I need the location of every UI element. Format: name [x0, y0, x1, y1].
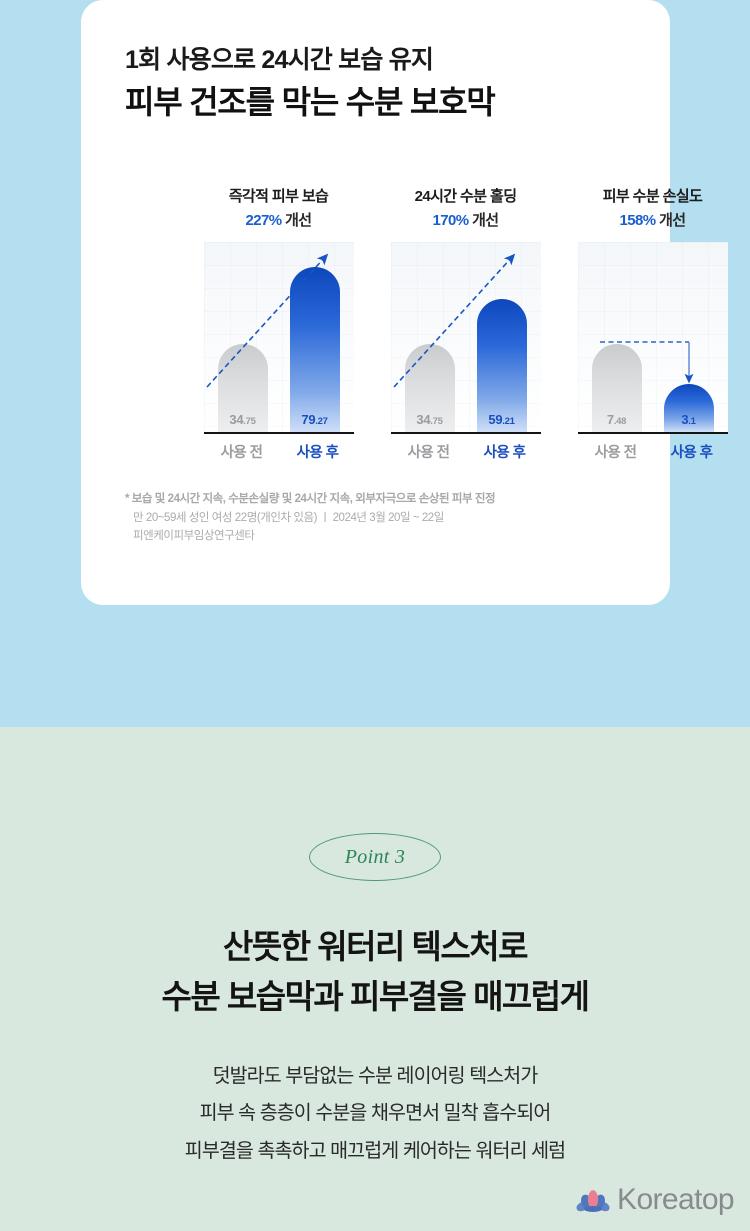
footnote-line-1: * 보습 및 24시간 지속, 수분손실량 및 24시간 지속, 외부자극으로 … [125, 490, 645, 509]
chart-subtitle-3: 158% 개선 [620, 209, 686, 230]
bar-after-1: 79.27 [290, 267, 340, 432]
chart-plot-1: 34.75 79.27 [204, 242, 354, 432]
bar-after-int-2: 59 [488, 412, 502, 427]
product-detail-page: 1회 사용으로 24시간 보습 유지 피부 건조를 막는 수분 보호막 즉각적 … [0, 0, 750, 1231]
footnote-line-3: 피엔케이피부임상연구센타 [125, 527, 645, 546]
chart-improvement-pct-2: 170% [433, 212, 469, 229]
axis-label-after-1: 사용 후 [282, 441, 354, 462]
bottom-headline-group: 산뜻한 워터리 텍스처로 수분 보습막과 피부결을 매끄럽게 [0, 922, 750, 1021]
body-copy-group: 덧발라도 부담없는 수분 레이어링 텍스처가 피부 속 층층이 수분을 채우면서… [0, 1058, 750, 1170]
axis-label-after-3: 사용 후 [656, 441, 728, 462]
footnote-line-2: 만 20~59세 성인 여성 22명(개인차 있음) ㅣ 2024년 3월 20… [125, 509, 645, 528]
axis-label-after-2: 사용 후 [469, 441, 541, 462]
bar-before-dec-1: .75 [243, 416, 255, 427]
chart-title-2: 24시간 수분 홀딩 [415, 185, 517, 206]
bar-before-dec-2: .75 [430, 416, 442, 427]
bar-after-int-1: 79 [301, 412, 315, 427]
lotus-icon [576, 1185, 610, 1215]
chart-improvement-suffix-3: 개선 [656, 212, 686, 229]
footnote-group: * 보습 및 24시간 지속, 수분손실량 및 24시간 지속, 외부자극으로 … [125, 490, 645, 546]
bar-before-value-1: 34.75 [229, 412, 255, 432]
bar-after-dec-2: .21 [502, 416, 514, 427]
body-copy-line1: 덧발라도 부담없는 수분 레이어링 텍스처가 [0, 1058, 750, 1095]
chart-improvement-suffix-2: 개선 [469, 212, 499, 229]
axis-label-before-3: 사용 전 [580, 441, 652, 462]
bottom-headline-line1: 산뜻한 워터리 텍스처로 [0, 922, 750, 972]
point-badge-label: Point 3 [345, 846, 405, 869]
card-headline-line2: 피부 건조를 막는 수분 보호막 [125, 81, 645, 124]
chart-axis-labels-2: 사용 전 사용 후 [391, 441, 541, 462]
chart-title-3: 피부 수분 손실도 [603, 185, 703, 206]
point-badge: Point 3 [309, 833, 441, 881]
bar-after-3: 3.1 [664, 384, 714, 432]
bar-before-dec-3: .48 [614, 416, 626, 427]
bar-before-int-1: 34 [229, 412, 243, 427]
bar-after-dec-3: .1 [688, 416, 695, 427]
chart-improvement-suffix-1: 개선 [282, 212, 312, 229]
logo-text: Koreatop [617, 1183, 734, 1217]
axis-label-before-2: 사용 전 [393, 441, 465, 462]
bar-after-2: 59.21 [477, 299, 527, 432]
chart-subtitle-1: 227% 개선 [246, 209, 312, 230]
bar-after-value-3: 3.1 [681, 412, 695, 432]
bar-after-value-1: 79.27 [301, 412, 327, 432]
card-headline-group: 1회 사용으로 24시간 보습 유지 피부 건조를 막는 수분 보호막 [125, 44, 645, 124]
chart-improvement-pct-1: 227% [246, 212, 282, 229]
bar-after-dec-1: .27 [315, 416, 327, 427]
bottom-headline-line2: 수분 보습막과 피부결을 매끄럽게 [0, 972, 750, 1022]
bar-before-int-2: 34 [416, 412, 430, 427]
chart-improvement-pct-3: 158% [620, 212, 656, 229]
bar-before-3: 7.48 [592, 344, 642, 432]
chart-column-2: 24시간 수분 홀딩 170% 개선 34.75 59.21 [372, 185, 559, 462]
chart-plot-2: 34.75 59.21 [391, 242, 541, 432]
body-copy-line3: 피부결을 촉촉하고 매끄럽게 케어하는 워터리 세럼 [0, 1133, 750, 1170]
bar-before-int-3: 7 [607, 412, 614, 427]
chart-column-3: 피부 수분 손실도 158% 개선 7.48 3.1 [559, 185, 746, 462]
chart-plot-3: 7.48 3.1 [578, 242, 728, 432]
bar-before-2: 34.75 [405, 344, 455, 432]
chart-column-1: 즉각적 피부 보습 227% 개선 34.75 79.27 [185, 185, 372, 462]
body-copy-line2: 피부 속 층층이 수분을 채우면서 밀착 흡수되어 [0, 1095, 750, 1132]
bar-after-value-2: 59.21 [488, 412, 514, 432]
charts-row: 즉각적 피부 보습 227% 개선 34.75 79.27 [185, 185, 747, 462]
brand-logo: Koreatop [576, 1183, 734, 1217]
bar-before-1: 34.75 [218, 344, 268, 432]
bar-before-value-3: 7.48 [607, 412, 626, 432]
chart-subtitle-2: 170% 개선 [433, 209, 499, 230]
bar-after-shape-1 [290, 267, 340, 432]
chart-axis-labels-1: 사용 전 사용 후 [204, 441, 354, 462]
bar-before-value-2: 34.75 [416, 412, 442, 432]
card-headline-line1: 1회 사용으로 24시간 보습 유지 [125, 44, 645, 77]
axis-label-before-1: 사용 전 [206, 441, 278, 462]
clinical-results-card: 1회 사용으로 24시간 보습 유지 피부 건조를 막는 수분 보호막 즉각적 … [81, 0, 670, 605]
chart-title-1: 즉각적 피부 보습 [229, 185, 329, 206]
chart-axis-labels-3: 사용 전 사용 후 [578, 441, 728, 462]
